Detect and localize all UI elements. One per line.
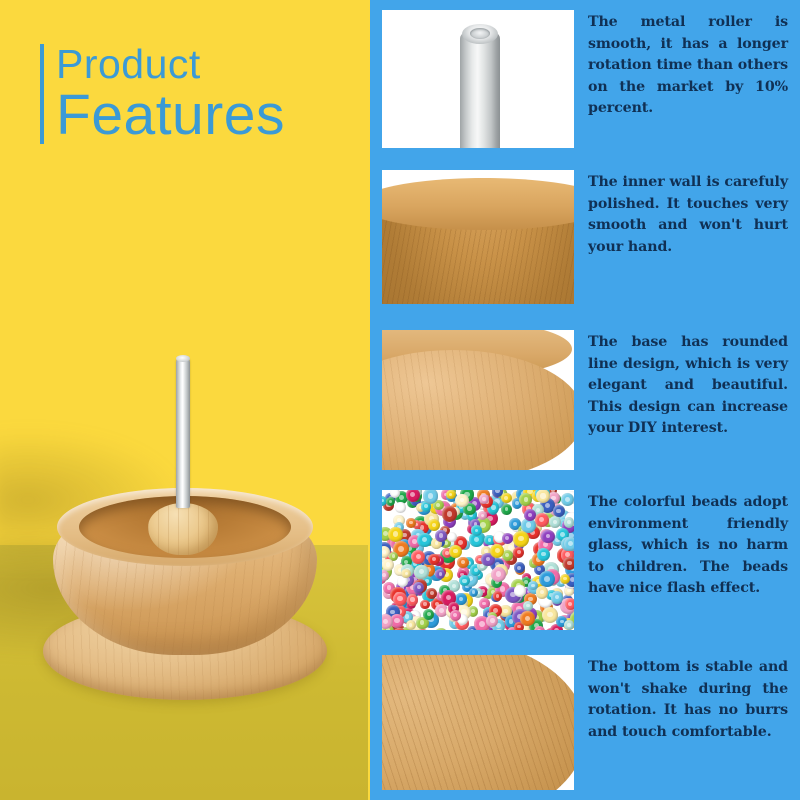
bead — [551, 591, 564, 604]
hub-ridges — [148, 503, 218, 555]
bead — [541, 530, 555, 544]
bead — [523, 601, 533, 611]
bead — [423, 609, 434, 620]
bead — [564, 620, 574, 630]
bead-grid — [382, 490, 574, 630]
bead — [502, 533, 513, 544]
bead — [393, 592, 407, 606]
bottom-photo — [382, 655, 574, 790]
bead — [414, 565, 428, 579]
bead — [450, 610, 461, 621]
feature-text: The base has rounded line design, which … — [574, 330, 788, 440]
bead — [407, 594, 419, 606]
product-features-infographic: Product Features — [0, 0, 800, 800]
feature-row: The colorful beads adopt environment fri… — [382, 490, 788, 630]
bead — [455, 494, 468, 507]
bead — [491, 567, 506, 582]
rounded-base-photo — [382, 330, 574, 470]
bead — [561, 493, 574, 506]
bead — [413, 582, 424, 593]
inner-wall-lip — [382, 178, 574, 230]
product-metal-rod — [176, 358, 190, 508]
bead — [471, 525, 481, 535]
bead — [563, 557, 574, 570]
feature-row: The metal roller is smooth, it has a lon… — [382, 10, 788, 148]
feature-row: The bottom is stable and won't shake dur… — [382, 655, 788, 790]
feature-text: The inner wall is carefuly polished. It … — [574, 170, 788, 258]
bead — [406, 620, 416, 630]
bead — [446, 490, 456, 499]
product-metal-rod-tip — [176, 355, 190, 362]
feature-row: The base has rounded line design, which … — [382, 330, 788, 470]
product-center-hub — [148, 503, 218, 555]
metal-roller-photo — [382, 10, 574, 148]
bead — [493, 591, 503, 601]
bead — [469, 588, 478, 597]
bead — [390, 490, 400, 498]
roller-body — [460, 32, 500, 148]
bead — [417, 629, 429, 630]
bead — [564, 517, 574, 528]
feature-text: The colorful beads adopt environment fri… — [574, 490, 788, 600]
feature-text: The bottom is stable and won't shake dur… — [574, 655, 788, 743]
title-accent-bar — [40, 44, 44, 144]
left-yellow-panel: Product Features — [0, 0, 368, 800]
bead — [479, 494, 489, 504]
feature-row: The inner wall is carefuly polished. It … — [382, 170, 788, 304]
page-title: Product Features — [40, 44, 285, 144]
bead — [537, 548, 550, 561]
colorful-beads-photo — [382, 490, 574, 630]
bead — [382, 559, 394, 571]
roller-hole — [470, 28, 490, 39]
bead — [513, 531, 529, 547]
bead — [513, 547, 524, 558]
bead — [420, 600, 429, 609]
title-line-2: Features — [56, 87, 285, 144]
bead — [565, 598, 574, 609]
feature-text: The metal roller is smooth, it has a lon… — [574, 10, 788, 120]
right-blue-panel: The metal roller is smooth, it has a lon… — [370, 0, 800, 800]
bead — [395, 502, 406, 513]
title-line-1: Product — [56, 44, 285, 85]
bead — [535, 513, 549, 527]
bead — [428, 554, 439, 565]
bottom-wood-grain — [382, 655, 574, 790]
bead — [501, 504, 511, 514]
bead — [382, 570, 389, 581]
base-disc-edge — [382, 350, 574, 470]
bead — [449, 545, 462, 558]
bead — [435, 530, 447, 542]
hero-product-photo — [35, 340, 335, 700]
bead — [520, 611, 534, 625]
bead — [406, 518, 415, 527]
base-photo-grain — [382, 350, 574, 470]
bead — [553, 505, 565, 517]
bead — [542, 607, 558, 623]
title-lines: Product Features — [56, 44, 285, 144]
bead — [442, 506, 457, 521]
bead — [501, 493, 512, 504]
bottom-disc — [382, 655, 574, 790]
inner-wall-photo — [382, 170, 574, 304]
bead — [536, 586, 548, 598]
